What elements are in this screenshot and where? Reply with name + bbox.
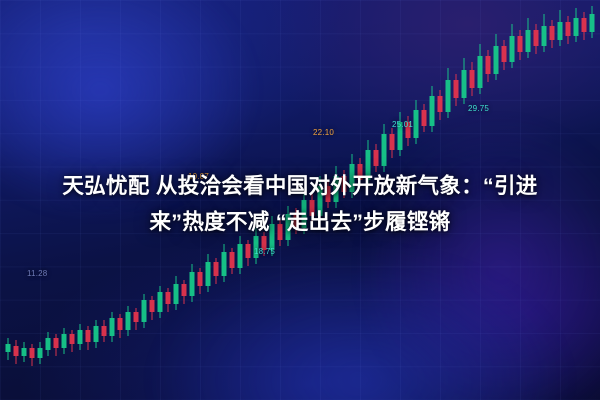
candle bbox=[446, 68, 451, 118]
candle bbox=[422, 104, 427, 132]
candle bbox=[94, 320, 99, 348]
candle bbox=[454, 74, 459, 106]
candle bbox=[14, 340, 19, 364]
candle bbox=[62, 328, 67, 354]
candle bbox=[574, 8, 579, 42]
candle bbox=[398, 112, 403, 156]
candle bbox=[166, 288, 171, 312]
candle bbox=[542, 14, 547, 52]
candle bbox=[78, 324, 83, 350]
candle bbox=[494, 34, 499, 80]
candle bbox=[478, 44, 483, 94]
candle bbox=[110, 312, 115, 342]
candle bbox=[238, 236, 243, 274]
candle bbox=[118, 314, 123, 338]
candle bbox=[222, 244, 227, 282]
headline-line-2: 来”热度不减 “走出去”步履铿锵 bbox=[10, 204, 590, 240]
candle bbox=[470, 62, 475, 96]
image-canvas: 29.7525.0122.1018.7510.0711.28 天弘忧配 从投洽会… bbox=[0, 0, 600, 400]
candle bbox=[30, 344, 35, 366]
headline-line-1: 天弘忧配 从投洽会看中国对外开放新气象：“引进 bbox=[10, 168, 590, 204]
candle bbox=[182, 280, 187, 304]
candle bbox=[566, 16, 571, 44]
candle bbox=[558, 10, 563, 46]
candle bbox=[462, 58, 467, 104]
candle bbox=[518, 30, 523, 60]
candle bbox=[390, 128, 395, 158]
candle bbox=[214, 258, 219, 284]
candle bbox=[430, 86, 435, 132]
candle bbox=[382, 124, 387, 172]
label-29-75: 29.75 bbox=[468, 104, 489, 113]
candle bbox=[102, 320, 107, 342]
candle bbox=[54, 334, 59, 356]
candle bbox=[206, 254, 211, 292]
candle bbox=[510, 24, 515, 68]
candle bbox=[526, 18, 531, 58]
candle bbox=[158, 286, 163, 318]
candle bbox=[38, 342, 43, 364]
candle bbox=[438, 90, 443, 120]
candle bbox=[414, 100, 419, 144]
candle bbox=[6, 338, 11, 360]
candle bbox=[150, 296, 155, 320]
candle bbox=[70, 330, 75, 352]
candle bbox=[174, 276, 179, 310]
candle bbox=[582, 12, 587, 40]
headline: 天弘忧配 从投洽会看中国对外开放新气象：“引进 来”热度不减 “走出去”步履铿锵 bbox=[0, 168, 600, 240]
label-22-10: 22.10 bbox=[313, 128, 334, 137]
candle bbox=[142, 294, 147, 328]
candle bbox=[22, 342, 27, 362]
label-11-28: 11.28 bbox=[27, 269, 47, 278]
label-18-75: 18.75 bbox=[254, 247, 275, 256]
candle bbox=[590, 6, 595, 38]
candle bbox=[198, 268, 203, 294]
label-25-01: 25.01 bbox=[392, 120, 413, 129]
candle bbox=[534, 24, 539, 54]
candle bbox=[502, 40, 507, 70]
candle bbox=[190, 264, 195, 302]
candle bbox=[246, 240, 251, 266]
candle bbox=[230, 248, 235, 274]
candle bbox=[86, 326, 91, 350]
candle bbox=[550, 20, 555, 48]
candle bbox=[46, 332, 51, 356]
candle bbox=[126, 306, 131, 336]
candle bbox=[486, 50, 491, 82]
candle bbox=[134, 308, 139, 330]
